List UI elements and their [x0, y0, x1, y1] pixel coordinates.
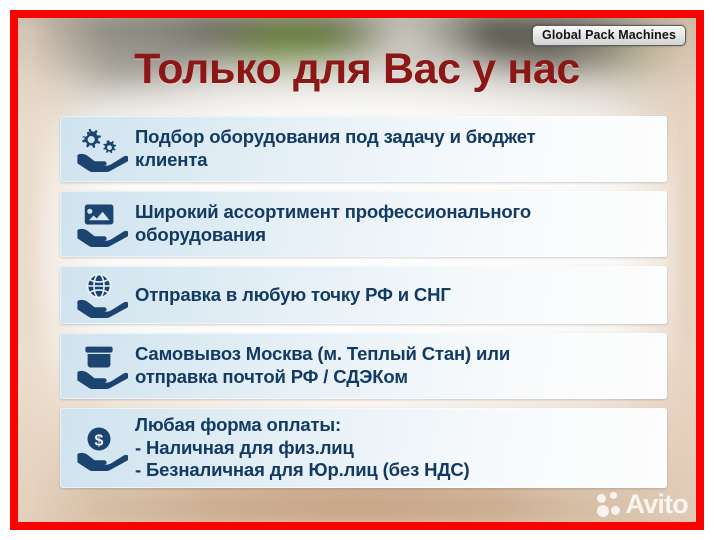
feature-card-text: Любая форма оплаты: - Наличная для физ.л… — [135, 414, 470, 482]
feature-card-product-range[interactable]: Широкий ассортимент профессионального об… — [60, 191, 667, 257]
avito-logo-icon — [597, 492, 623, 518]
feature-card-text: Подбор оборудования под задачу и бюджет … — [135, 126, 536, 171]
svg-text:$: $ — [95, 432, 104, 449]
ad-banner: Global Pack Machines Только для Вас у на… — [0, 0, 714, 540]
feature-card-text: Широкий ассортимент профессионального об… — [135, 201, 531, 246]
feature-card-equipment-selection[interactable]: Подбор оборудования под задачу и бюджет … — [60, 116, 667, 182]
avito-watermark: Avito — [597, 491, 689, 518]
coin-in-hand-icon: $ — [73, 424, 129, 472]
feature-card-payment-options[interactable]: $ Любая форма оплаты: - Наличная для физ… — [60, 408, 667, 488]
feature-card-shipping[interactable]: Отправка в любую точку РФ и СНГ — [60, 266, 667, 324]
box-in-hand-icon — [73, 342, 129, 390]
gears-in-hand-icon — [73, 125, 129, 173]
feature-card-text: Самовывоз Москва (м. Теплый Стан) или от… — [135, 343, 510, 388]
feature-list: Подбор оборудования под задачу и бюджет … — [60, 116, 667, 497]
page-title: Только для Вас у нас — [0, 48, 714, 91]
globe-in-hand-icon — [73, 271, 129, 319]
feature-card-text: Отправка в любую точку РФ и СНГ — [135, 284, 451, 307]
feature-card-pickup-delivery[interactable]: Самовывоз Москва (м. Теплый Стан) или от… — [60, 333, 667, 399]
avito-wordmark: Avito — [626, 491, 689, 518]
brand-badge: Global Pack Machines — [532, 25, 686, 46]
image-in-hand-icon — [73, 200, 129, 248]
